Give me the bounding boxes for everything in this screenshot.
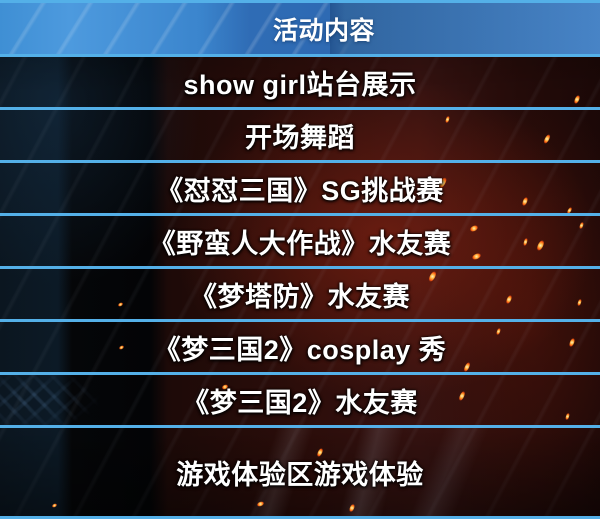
- ember-particle: [428, 270, 438, 282]
- ember-particle: [579, 222, 584, 230]
- row-label: 《梦三国2》水友赛: [182, 381, 418, 420]
- ember-particle: [463, 362, 471, 373]
- ember-particle: [52, 503, 58, 508]
- ember-particle: [445, 116, 450, 124]
- ember-particle: [536, 239, 545, 251]
- table-header-row: 活动内容: [0, 0, 600, 57]
- table-row: 《梦三国2》水友赛: [0, 375, 600, 428]
- table-row: 开场舞蹈: [0, 110, 600, 163]
- ember-particle: [543, 134, 551, 145]
- ember-particle: [496, 328, 501, 336]
- ember-particle: [566, 207, 572, 215]
- ember-particle: [521, 197, 528, 207]
- ember-particle: [349, 504, 356, 513]
- table-row: show girl站台展示: [0, 57, 600, 110]
- row-label: show girl站台展示: [183, 63, 416, 102]
- row-label: 游戏体验区游戏体验: [176, 453, 424, 492]
- table-row: 《怼怼三国》SG挑战赛: [0, 163, 600, 216]
- ember-particle: [257, 501, 265, 507]
- row-label: 《怼怼三国》SG挑战赛: [156, 169, 444, 208]
- row-label: 开场舞蹈: [245, 116, 355, 155]
- row-label: 《野蛮人大作战》水友赛: [149, 222, 452, 261]
- ember-particle: [458, 391, 466, 402]
- ember-particle: [577, 299, 582, 307]
- row-label: 《梦三国2》cosplay 秀: [154, 328, 447, 367]
- row-label: 《梦塔防》水友赛: [190, 275, 410, 314]
- blue-glyph-texture: [0, 375, 160, 428]
- ember-particle: [568, 338, 575, 348]
- ember-particle: [469, 224, 478, 232]
- ember-particle: [523, 238, 528, 247]
- page-title: 活动内容: [273, 11, 375, 47]
- table-row: 游戏体验区游戏体验: [0, 428, 600, 519]
- ember-particle: [119, 345, 125, 350]
- activity-schedule-table: 活动内容 show girl站台展示 开场舞蹈 《怼怼三国》SG挑战赛: [0, 0, 600, 519]
- table-row: 《野蛮人大作战》水友赛: [0, 216, 600, 269]
- table-row: 《梦塔防》水友赛: [0, 269, 600, 322]
- ember-particle: [573, 95, 580, 105]
- ember-particle: [471, 252, 481, 260]
- ember-particle: [505, 295, 512, 305]
- table-row: 《梦三国2》cosplay 秀: [0, 322, 600, 375]
- ember-particle: [565, 413, 570, 421]
- ember-particle: [118, 302, 124, 307]
